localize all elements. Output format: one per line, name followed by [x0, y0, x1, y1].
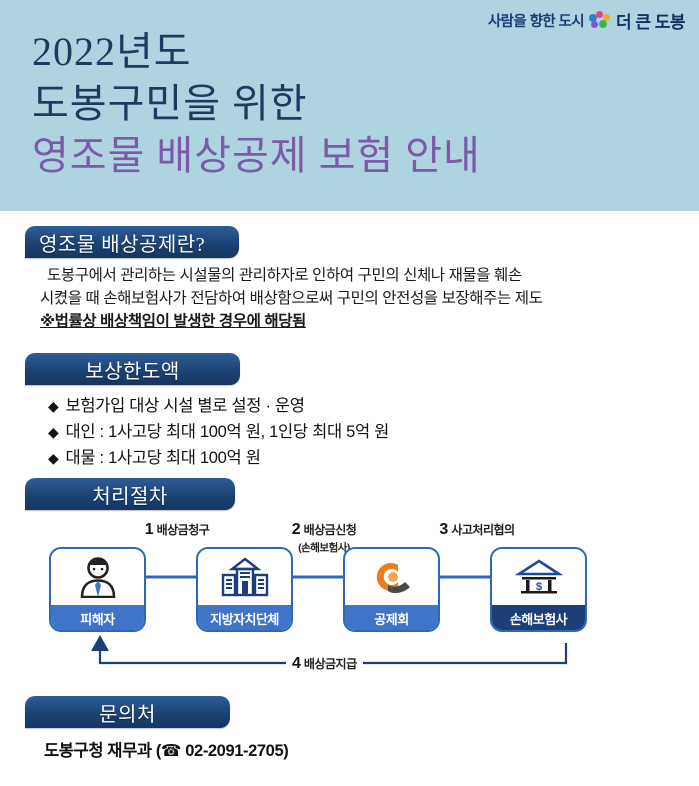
process-step-3-number: 3 [439, 521, 448, 538]
process-step-3-text: 사고처리협의 [451, 523, 514, 537]
process-step-2-text: 배상금신청 [304, 523, 357, 537]
limit-item-3-text: 대물 : 1사고당 최대 100억 원 [65, 449, 260, 467]
title-line-1: 2022년도 [32, 26, 672, 78]
limit-item-2-text: 대인 : 1사고당 최대 100억 원, 1인당 최대 5억 원 [65, 423, 389, 441]
title-line-2: 도봉구민을 위한 [32, 78, 672, 130]
association-swoosh-icon [345, 549, 438, 605]
flow-node-insurance-company[interactable]: $ 손해보험사 [490, 547, 587, 632]
flow-node-local-government-label: 지방자치단체 [198, 605, 291, 632]
title-line-3: 영조물 배상공제 보험 안내 [32, 130, 672, 182]
section-header-process-label: 처리절차 [92, 480, 168, 509]
diamond-bullet-icon: ◆ [48, 424, 58, 440]
person-in-suit-icon [51, 549, 144, 605]
section-header-limit: 보상한도액 [25, 353, 240, 385]
definition-line-1: 도봉구에서 관리하는 시설물의 관리하자로 인하여 구민의 신체나 재물을 훼손 [47, 264, 522, 287]
bank-with-dollar-icon: $ [492, 549, 585, 605]
page-title: 2022년도 도봉구민을 위한 영조물 배상공제 보험 안내 [32, 26, 672, 182]
process-step-4-text: 배상금지급 [304, 657, 357, 671]
header-banner: 사람을 향한 도시 더 큰 도봉 2022년도 도봉구민을 위한 영조물 배상공… [0, 0, 699, 211]
limit-item-1-text: 보험가입 대상 시설 별로 설정 · 운영 [65, 397, 304, 415]
process-flow-diagram: 1배상금청구 2배상금신청 (손해보험사) 3사고처리협의 피해자 [0, 515, 699, 690]
process-step-1-text: 배상금청구 [157, 523, 210, 537]
section-header-contact: 문의처 [25, 696, 230, 728]
flow-node-victim[interactable]: 피해자 [49, 547, 146, 632]
process-step-1-number: 1 [145, 521, 154, 538]
limit-item-3: ◆대물 : 1사고당 최대 100억 원 [48, 445, 261, 471]
process-step-4-label: 4배상금지급 [286, 655, 363, 673]
process-step-2-number: 2 [292, 521, 301, 538]
diamond-bullet-icon: ◆ [48, 398, 58, 414]
process-step-3-label: 3사고처리협의 [392, 521, 562, 539]
section-header-contact-label: 문의처 [99, 698, 156, 727]
definition-line-2: 시켰을 때 손해보험사가 전담하여 배상함으로써 구민의 안전성을 보장해주는 … [40, 287, 543, 310]
diamond-bullet-icon: ◆ [48, 450, 58, 466]
section-header-process: 처리절차 [25, 478, 235, 510]
flow-node-insurance-company-label: 손해보험사 [492, 605, 585, 632]
limit-item-2: ◆대인 : 1사고당 최대 100억 원, 1인당 최대 5억 원 [48, 419, 389, 445]
flow-node-association[interactable]: 공제회 [343, 547, 440, 632]
government-building-icon [198, 549, 291, 605]
limit-item-1: ◆보험가입 대상 시설 별로 설정 · 운영 [48, 393, 305, 419]
section-header-definition-label: 영조물 배상공제란? [39, 228, 205, 257]
flow-node-association-label: 공제회 [345, 605, 438, 632]
flow-node-local-government[interactable]: 지방자치단체 [196, 547, 293, 632]
contact-details: 도봉구청 재무과 (☎ 02-2091-2705) [44, 737, 288, 761]
process-step-4-number: 4 [292, 655, 301, 672]
section-header-limit-label: 보상한도액 [85, 355, 180, 384]
process-step-1-label: 1배상금청구 [97, 521, 257, 539]
definition-note: ※법률상 배상책임이 발생한 경우에 해당됨 [40, 310, 306, 333]
section-header-definition: 영조물 배상공제란? [25, 226, 239, 258]
flow-node-victim-label: 피해자 [51, 605, 144, 632]
